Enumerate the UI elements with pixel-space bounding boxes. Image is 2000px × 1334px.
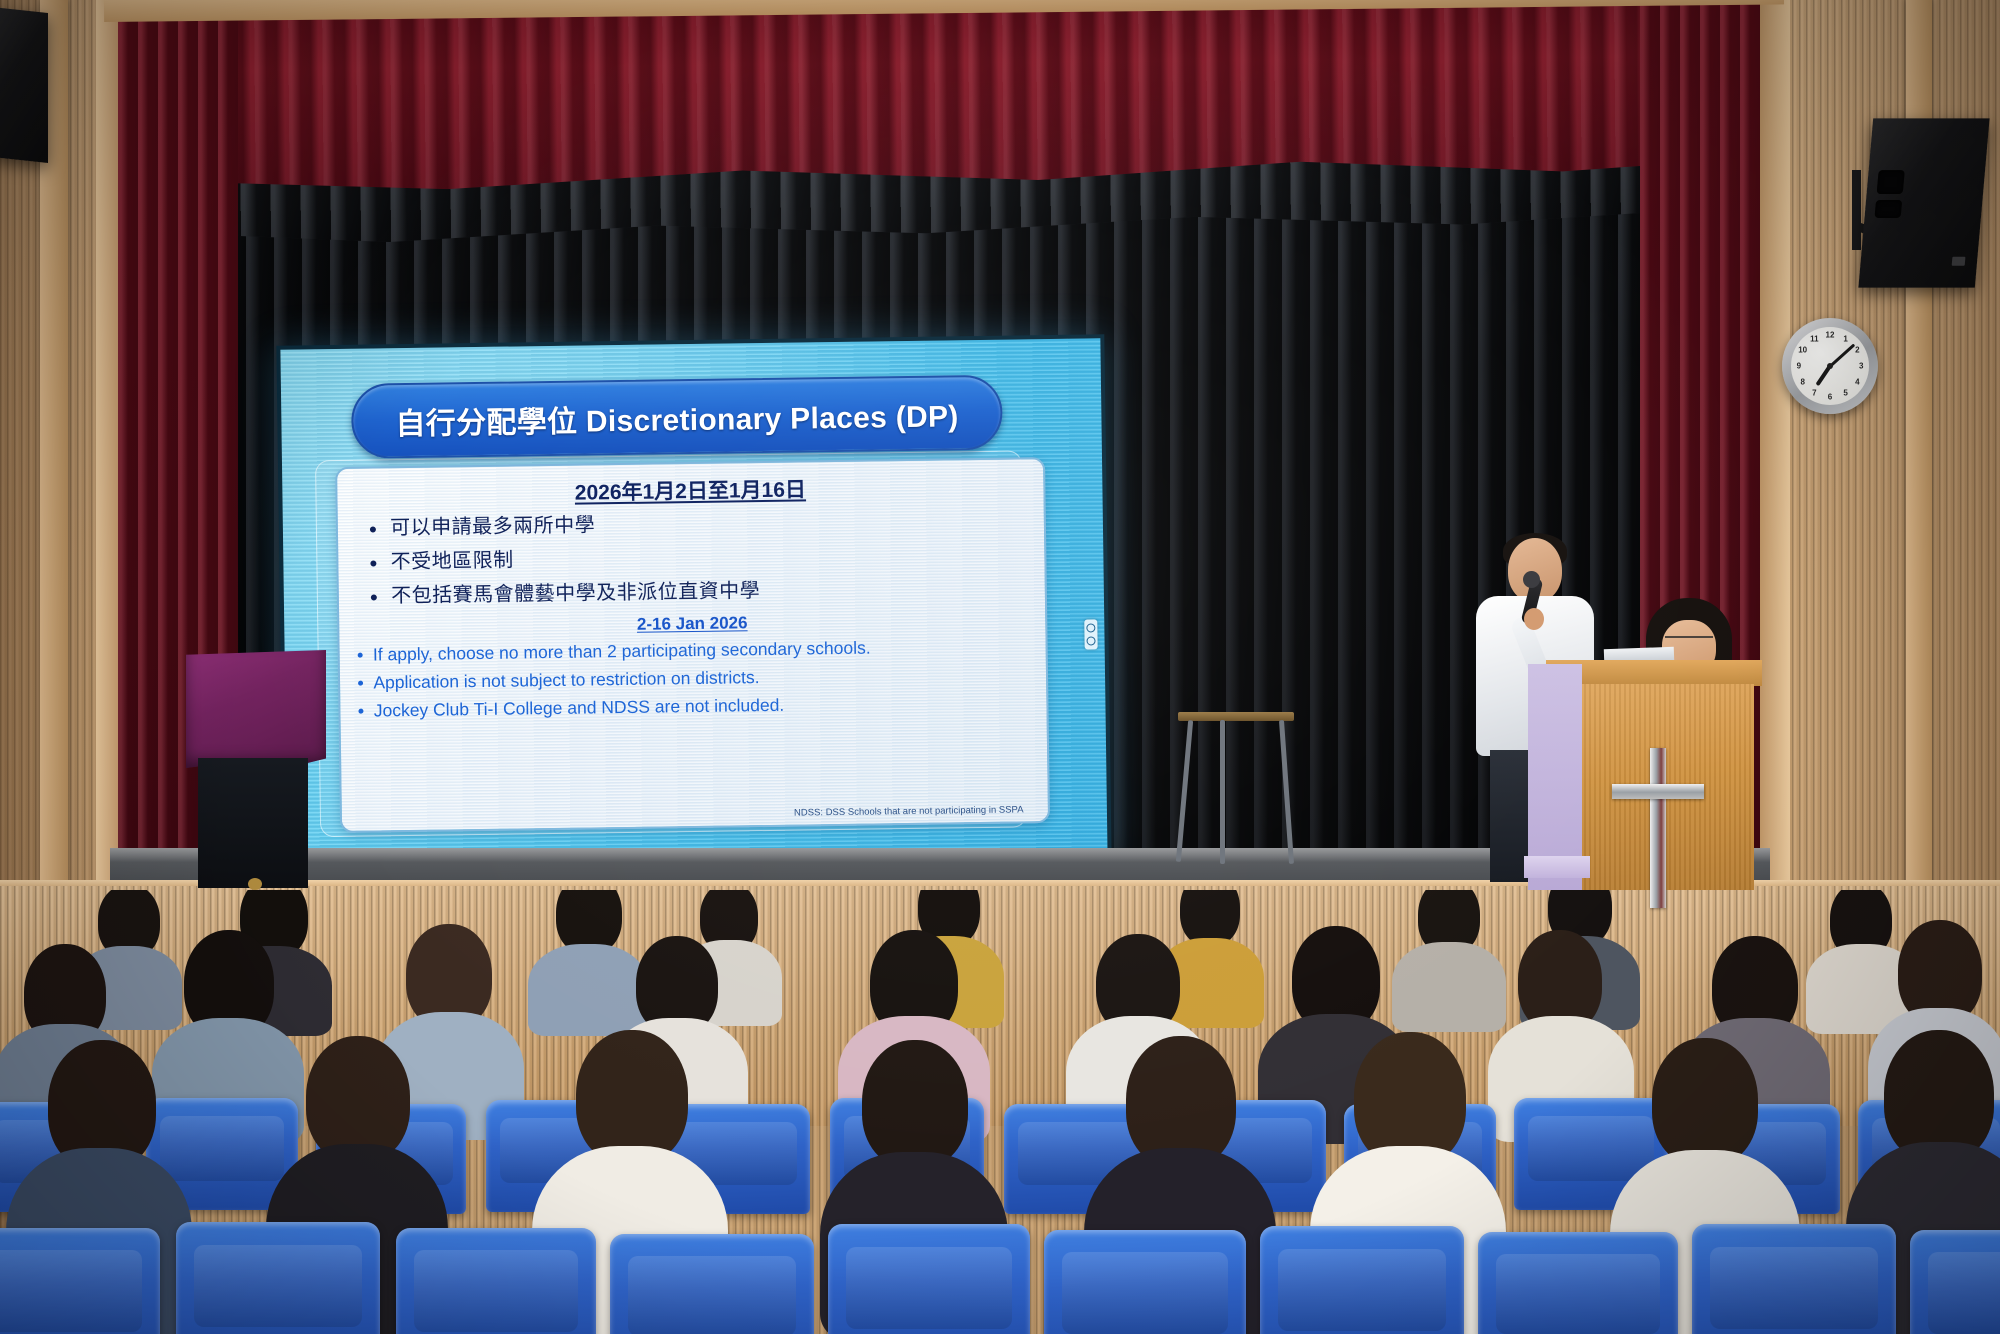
wall-speaker-left xyxy=(0,7,48,163)
speaker-cabinet xyxy=(0,7,48,163)
slide-content-card: 2026年1月2日至1月16日 可以申請最多兩所中學 不受地區限制 不包括賽馬會… xyxy=(335,457,1049,833)
audience-seating xyxy=(0,890,2000,1334)
chair[interactable] xyxy=(1692,1224,1896,1334)
clock-face: 12 1 2 3 4 5 6 7 8 9 10 11 xyxy=(1791,327,1869,405)
speaker-port xyxy=(1875,200,1903,218)
clock-numeral: 8 xyxy=(1800,377,1804,386)
clock-numeral: 10 xyxy=(1798,346,1807,355)
list-item: If apply, choose no more than 2 particip… xyxy=(356,636,1031,665)
clock-numeral: 12 xyxy=(1826,330,1835,339)
piano-caster xyxy=(248,878,262,890)
stool-seat xyxy=(1178,712,1294,721)
stool-leg xyxy=(1176,720,1193,862)
slide-bullets-english: If apply, choose no more than 2 particip… xyxy=(354,636,1032,730)
screen-indicator-icon xyxy=(1086,636,1095,645)
clock-minute-hand xyxy=(1829,343,1855,367)
chair[interactable] xyxy=(1260,1226,1464,1334)
piano-with-purple-cover xyxy=(186,650,326,890)
cross-icon-crossbar xyxy=(1612,784,1704,799)
audience-member xyxy=(1392,942,1506,1032)
clock-numeral: 6 xyxy=(1828,393,1832,402)
chair[interactable] xyxy=(610,1234,814,1334)
purple-velvet-cover xyxy=(186,650,326,768)
chair[interactable] xyxy=(396,1228,596,1334)
clock-numeral: 3 xyxy=(1859,362,1863,371)
slide-bullets-chinese: 可以申請最多兩所中學 不受地區限制 不包括賽馬會體藝中學及非派位直資中學 xyxy=(352,508,1031,619)
clock-center-pin xyxy=(1827,363,1833,369)
list-item: Jockey Club Ti-I College and NDSS are no… xyxy=(357,692,1032,721)
wall-clock: 12 1 2 3 4 5 6 7 8 9 10 11 xyxy=(1782,318,1878,414)
microphone-head-icon xyxy=(1523,571,1540,588)
clock-numeral: 7 xyxy=(1812,389,1816,398)
chair[interactable] xyxy=(1478,1232,1678,1334)
audience-member xyxy=(576,1030,688,1164)
list-item: 不受地區限制 xyxy=(369,542,1031,574)
clock-numeral: 2 xyxy=(1855,346,1859,355)
slide-date-chinese: 2026年1月2日至1月16日 xyxy=(352,470,1030,509)
chair[interactable] xyxy=(176,1222,380,1334)
clock-numeral: 9 xyxy=(1797,362,1801,371)
screen-control-badge[interactable] xyxy=(1084,619,1097,649)
hand xyxy=(1524,608,1544,630)
speaker-mount-post xyxy=(1852,170,1861,250)
clock-numeral: 1 xyxy=(1843,334,1847,343)
slide-footnote: NDSS: DSS Schools that are not participa… xyxy=(356,804,1033,824)
screen-indicator-icon xyxy=(1086,623,1095,632)
cross-icon xyxy=(1650,748,1666,908)
podium-group xyxy=(1450,520,1770,890)
speaker-port xyxy=(1877,170,1905,194)
chair[interactable] xyxy=(828,1224,1030,1334)
slide-title-pill: 自行分配學位 Discretionary Places (DP) xyxy=(351,375,1004,459)
audience-member xyxy=(528,944,648,1036)
lectern-base xyxy=(1524,856,1590,878)
clock-numeral: 4 xyxy=(1855,377,1859,386)
clock-numeral: 5 xyxy=(1843,389,1847,398)
audience-member xyxy=(1652,1038,1758,1166)
stool-leg xyxy=(1220,720,1225,864)
speaker-brand-badge xyxy=(1952,257,1966,266)
wooden-podium xyxy=(1546,660,1762,890)
audience-member xyxy=(862,1040,968,1168)
chair[interactable] xyxy=(0,1228,160,1334)
piano-body xyxy=(198,758,308,888)
metal-stool xyxy=(1178,712,1294,864)
stool-leg xyxy=(1279,720,1294,864)
slide-surface: 自行分配學位 Discretionary Places (DP) 2026年1月… xyxy=(280,338,1107,869)
slide-title-text: 自行分配學位 Discretionary Places (DP) xyxy=(395,391,959,443)
wall-speaker-right xyxy=(1858,118,1989,287)
chair[interactable] xyxy=(1910,1230,2000,1334)
hall-scene: 自行分配學位 Discretionary Places (DP) 2026年1月… xyxy=(0,0,2000,1334)
list-item: 可以申請最多兩所中學 xyxy=(368,508,1030,540)
list-item: 不包括賽馬會體藝中學及非派位直資中學 xyxy=(369,576,1031,608)
led-presentation-screen[interactable]: 自行分配學位 Discretionary Places (DP) 2026年1月… xyxy=(276,334,1111,874)
list-item: Application is not subject to restrictio… xyxy=(356,664,1031,693)
chair[interactable] xyxy=(1044,1230,1246,1334)
clock-numeral: 11 xyxy=(1810,334,1818,343)
